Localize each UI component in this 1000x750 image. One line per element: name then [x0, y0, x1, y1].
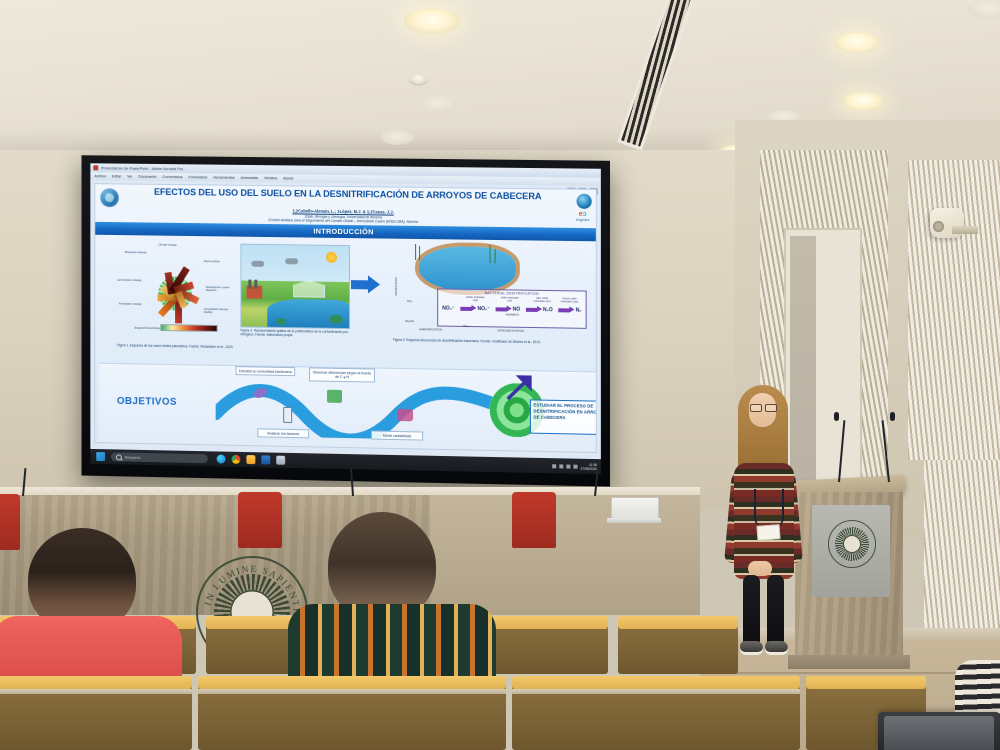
taskbar-app-icons[interactable] [217, 454, 286, 464]
menu-item-documento[interactable]: Documento [138, 175, 156, 179]
objetivo-label-1: Estudiar la comunidad bacteriana [235, 366, 295, 377]
svg-text:IN LUMINE SAPIENTIA: IN LUMINE SAPIENTIA [196, 556, 301, 613]
acrobat-icon [93, 165, 98, 170]
volume-icon[interactable] [566, 464, 570, 468]
lanyard [754, 489, 784, 529]
reed-icon [495, 249, 496, 263]
ceiling-downlight [968, 0, 1000, 18]
chain-species-n2o: N₂O [543, 307, 553, 313]
system-tray[interactable]: 11:36 27/05/2025 [552, 462, 597, 471]
screen-content: Presentacion de PowerPoint - Adobe Acrob… [90, 163, 601, 474]
chair-red-left [238, 492, 282, 548]
denitrification-chain: NO₃⁻ NO₂⁻ NO N₂O N₂ [442, 306, 581, 314]
edge-icon[interactable] [217, 454, 226, 463]
figure-2-nitrogen-landscape [240, 244, 350, 329]
enzyme-label: nitrite reductase (nir) [499, 297, 521, 303]
enzyme-label: nitrate reductase (nar) [464, 297, 486, 303]
boundary-label: Stratospheric ozone depletion [206, 287, 234, 293]
foreground-laptop [878, 712, 1000, 750]
audience-torso [288, 604, 496, 680]
cloud-icon [251, 261, 264, 267]
acrobat-title-text: Presentacion de PowerPoint - Adobe Acrob… [101, 166, 183, 171]
battery-icon[interactable] [574, 464, 578, 468]
file-explorer-icon[interactable] [246, 455, 255, 464]
figure-1-legend [160, 324, 217, 332]
chain-species-no3: NO₃⁻ [442, 306, 455, 312]
boundary-label: Freshwater change [119, 304, 145, 307]
objetivos-goal-box: ESTUDIAR EL PROCESO DE DESNITRIFICACIÓN … [530, 399, 597, 435]
enzyme-label: nitrous oxide reductase (nos) [557, 298, 581, 304]
seat-writing-ledge [0, 689, 192, 694]
stream-pond-illustration [419, 246, 516, 292]
seal-sun-face-icon [843, 535, 861, 553]
menu-item-formularios[interactable]: Formularios [188, 175, 207, 179]
podium-microphone-head [890, 412, 895, 421]
chevron-up-icon[interactable] [552, 464, 556, 468]
menu-item-comentarios[interactable]: Comentarios [162, 175, 182, 179]
auditorium-scene: Presentacion de PowerPoint - Adobe Acrob… [0, 0, 1000, 750]
name-badge [757, 524, 781, 541]
ual-logo-icon [577, 194, 592, 209]
menu-item-ver[interactable]: Ver [127, 175, 132, 179]
start-button-icon[interactable] [96, 452, 105, 461]
menu-item-avanzadas[interactable]: Avanzadas [241, 176, 259, 180]
menu-item-herramientas[interactable]: Herramientas [213, 176, 234, 180]
seat-armrest-top [618, 616, 738, 629]
seat-row-front [0, 672, 1000, 750]
presenter-hands [748, 561, 772, 576]
objetivo-label-4: Medir variabilidad [371, 431, 423, 442]
engloba-logo: eɔ engloba [571, 211, 593, 222]
side-label-nitrogen-fixation: NITROGEN FIXATION [498, 329, 524, 332]
ceiling-downlight [842, 92, 884, 111]
menu-item-archivo[interactable]: Archivo [94, 174, 106, 178]
slide-title: EFECTOS DEL USO DEL SUELO EN LA DESNITRI… [121, 187, 576, 202]
side-label-nh4: NH₄⁺ [463, 325, 469, 328]
side-label-ammonification: AMMONIFICATION [419, 328, 442, 331]
boundary-label: Biogeochemical flows [135, 328, 163, 331]
menu-item-ventana[interactable]: Ventana [264, 176, 277, 180]
chain-species-no2: NO₂⁻ [477, 306, 489, 312]
windows-taskbar[interactable]: Búsqueda 11:36 27/05/2025 [90, 449, 601, 474]
dart-arrow-icon [506, 375, 532, 402]
chain-arrow-icon [526, 308, 537, 312]
seat-armrest-top [0, 676, 192, 689]
objetivo-label-2: Observar diferencias según la fuente de … [309, 367, 375, 382]
chain-arrow-icon [559, 309, 570, 313]
laptop-base [607, 518, 661, 523]
audience-member-1 [6, 528, 196, 658]
reed-icon [490, 245, 491, 263]
glasses-icon [750, 404, 775, 410]
slide-canvas: eɔ engloba EFECTOS DEL USO DEL SUELO EN … [94, 183, 597, 453]
probe-icon [283, 407, 292, 423]
taskbar-clock[interactable]: 11:36 27/05/2025 [581, 462, 597, 470]
seat-armrest-top [512, 676, 800, 689]
side-label-no3: NO₃⁻ [407, 300, 413, 303]
algae-bloom [329, 315, 343, 324]
ceiling-downlight [420, 95, 456, 111]
search-placeholder: Búsqueda [125, 455, 141, 459]
projection-screen: Presentacion de PowerPoint - Adobe Acrob… [82, 155, 610, 486]
ceiling-downlight [834, 32, 880, 53]
chrome-icon[interactable] [232, 455, 241, 464]
boundary-label: Novel entities [204, 261, 230, 264]
seat-writing-ledge [198, 689, 506, 694]
cloud-icon [285, 258, 298, 264]
seat-writing-ledge [512, 689, 800, 694]
objetivo-label-3: Analizar los factores [257, 428, 309, 438]
algae-bloom [276, 318, 286, 325]
denitrification-box: BACTERIAL DENITRIFICATION NO₃⁻ NO₂⁻ NO N… [437, 288, 586, 328]
figure-3-denitrification: BACTERIAL DENITRIFICATION NO₃⁻ NO₂⁻ NO N… [393, 244, 585, 339]
display-icon[interactable] [276, 456, 285, 465]
ual-logo-icon [100, 188, 119, 207]
figure-1-caption: Figura 1. Esquema de los nueve límites p… [117, 343, 234, 349]
chain-species-no: NO [513, 307, 521, 313]
seat [618, 622, 738, 674]
side-label-nitrification: NITRIFICATION [395, 277, 398, 296]
ceiling-downlight [404, 8, 460, 34]
ceiling-downlight [380, 130, 414, 145]
objetivos-section: OBJETIVOS Estudiar la comunidad bacteria… [99, 363, 597, 453]
taskbar-search-box[interactable]: Búsqueda [111, 452, 208, 463]
presidium-laptop [607, 497, 661, 525]
chain-species-n2: N₂ [576, 308, 582, 314]
seat-armrest-top [198, 676, 506, 689]
podium-university-seal [828, 520, 876, 568]
menu-item-ayuda[interactable]: Ayuda [283, 176, 293, 180]
reed-icon [415, 244, 416, 260]
sun-icon [326, 252, 337, 263]
samples-icon [397, 409, 413, 421]
chain-arrow-icon [461, 307, 472, 311]
menu-item-editar[interactable]: Editar [112, 174, 121, 178]
reed-icon [419, 246, 420, 260]
side-label-anammox: ANAMMOX [506, 314, 520, 317]
figure-2-caption: Figura 2. Representación gráfica de la p… [240, 328, 348, 338]
clock-date: 27/05/2025 [581, 466, 597, 470]
molecule-icon [327, 390, 342, 403]
acoustic-slat-panel [908, 160, 1000, 460]
camera-mount-bracket [952, 226, 978, 234]
search-icon [116, 454, 122, 460]
store-icon[interactable] [261, 455, 270, 464]
boundary-label: Atmospheric aerosol loading [204, 309, 234, 315]
seat-armrest-top [806, 676, 926, 689]
glasses-icon [110, 570, 152, 585]
network-icon[interactable] [559, 464, 563, 468]
smoke-detector-icon [410, 75, 427, 84]
chain-arrow-icon [496, 308, 507, 312]
chimney-icon [248, 280, 251, 289]
audience-member-2 [300, 512, 500, 662]
engloba-logo-text: engloba [571, 218, 593, 222]
side-label-nh2oh: NH₂OH [405, 320, 414, 323]
chimney-icon [254, 280, 257, 289]
enzyme-label: nitric oxide reductase (nor) [531, 298, 553, 304]
chair-red-right [512, 492, 556, 548]
section-header-objetivos: OBJETIVOS [117, 396, 177, 408]
boundary-label: Climate change [158, 245, 188, 248]
figure-3-caption: Figura 3. Esquema del proceso de desnitr… [393, 338, 585, 345]
podium-microphone-head [834, 412, 839, 421]
boundary-label: Biosphere integrity [125, 252, 153, 255]
boundary-label: Land-system change [117, 280, 145, 283]
